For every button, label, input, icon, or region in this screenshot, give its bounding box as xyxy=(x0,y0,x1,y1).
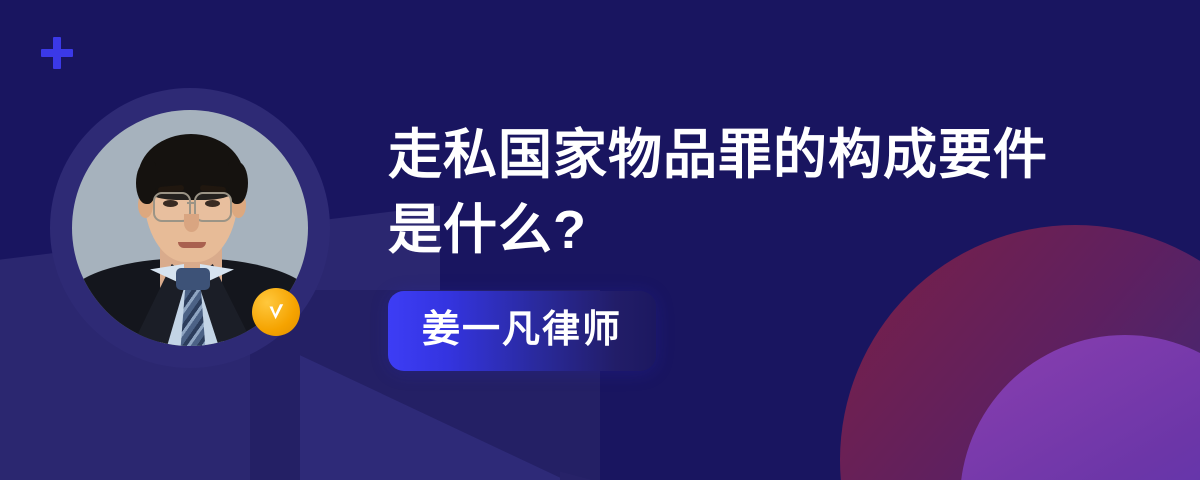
lawyer-qa-banner: 走私国家物品罪的构成要件是什么? 姜一凡律师 xyxy=(0,0,1200,480)
plus-icon xyxy=(40,36,74,70)
portrait-tie-knot xyxy=(176,268,210,290)
lawyer-name-badge[interactable]: 姜一凡律师 xyxy=(388,291,656,371)
lawyer-name-label: 姜一凡律师 xyxy=(422,309,622,351)
verified-check-icon xyxy=(252,288,300,336)
portrait-nose xyxy=(184,214,199,232)
portrait-glasses-bridge xyxy=(187,202,196,204)
page-title: 走私国家物品罪的构成要件是什么? xyxy=(388,118,1068,267)
banner-content: 走私国家物品罪的构成要件是什么? 姜一凡律师 xyxy=(388,118,1088,371)
portrait-mouth xyxy=(178,242,206,248)
portrait-glasses-lens-right xyxy=(194,192,232,222)
